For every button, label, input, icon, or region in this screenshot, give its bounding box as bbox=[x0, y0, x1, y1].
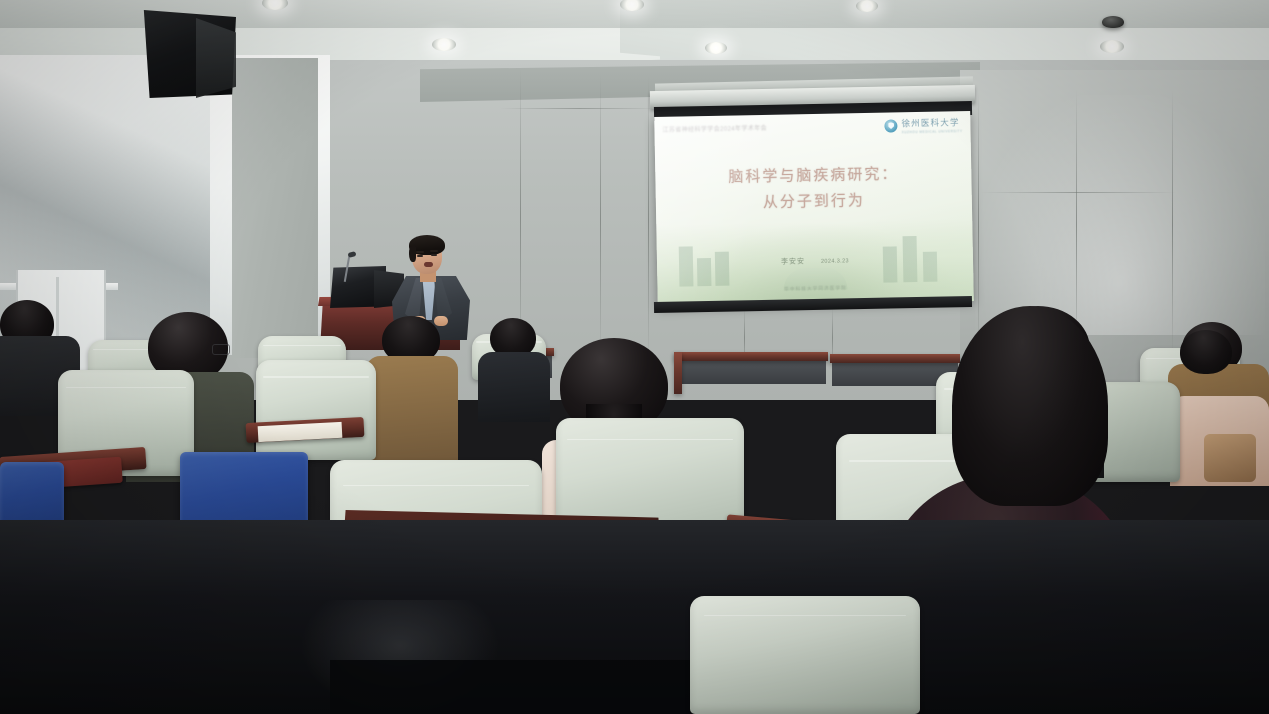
slide-header-text: 江苏省神经科学学会2024年学术年会 bbox=[662, 123, 767, 134]
recessed-downlight bbox=[1100, 40, 1124, 53]
recessed-downlight bbox=[856, 0, 878, 12]
front-bench-side-rail bbox=[674, 352, 682, 394]
wall-light-glow bbox=[975, 95, 1265, 335]
speaker-eyebrow bbox=[430, 250, 438, 252]
attendee-torso bbox=[366, 356, 458, 466]
speaker-mouth bbox=[424, 262, 433, 267]
recessed-downlight bbox=[705, 42, 727, 54]
slide-title-line-2: 从分子到行为 bbox=[656, 185, 972, 217]
recessed-downlight bbox=[432, 38, 456, 51]
front-wooden-bench bbox=[830, 354, 960, 363]
attendee-head bbox=[952, 306, 1108, 506]
attendee-head bbox=[1180, 330, 1232, 374]
projection-screen: 江苏省神经科学学会2024年学术年会 徐州医科大学 XUZHOU MEDICAL… bbox=[654, 111, 974, 307]
university-logo-icon bbox=[884, 119, 897, 132]
speaker-hair-side bbox=[409, 246, 416, 262]
wall-panel-seam bbox=[1172, 90, 1173, 360]
wall-panel-seam bbox=[980, 192, 1176, 193]
university-logo-subtext: XUZHOU MEDICAL UNIVERSITY bbox=[902, 129, 963, 134]
front-wooden-bench bbox=[674, 352, 828, 361]
wall-panel-seam bbox=[600, 74, 601, 364]
wall-panel-seam bbox=[648, 76, 649, 366]
lecture-hall-photo: 江苏省神经科学学会2024年学术年会 徐州医科大学 XUZHOU MEDICAL… bbox=[0, 0, 1269, 714]
wall-panel-seam bbox=[500, 108, 660, 109]
handbag bbox=[1204, 434, 1256, 482]
seat-headrest-cover[interactable] bbox=[690, 596, 920, 714]
slide-title: 脑科学与脑疾病研究： 从分子到行为 bbox=[655, 159, 972, 217]
wall-pillar bbox=[232, 58, 318, 358]
slide-date: 2024.3.23 bbox=[821, 258, 849, 265]
university-logo: 徐州医科大学 XUZHOU MEDICAL UNIVERSITY bbox=[884, 116, 962, 134]
seat-headrest-cover[interactable] bbox=[256, 360, 376, 460]
attendee-torso bbox=[478, 352, 550, 422]
speaker-eyebrow bbox=[416, 251, 424, 253]
wall-panel-seam bbox=[978, 92, 979, 362]
eyeglasses-icon bbox=[212, 344, 230, 355]
slide-presenter-name: 李安安 bbox=[781, 258, 805, 265]
university-logo-text: 徐州医科大学 bbox=[901, 116, 962, 129]
ceiling-smoke-detector bbox=[1102, 16, 1124, 28]
speaker-hand bbox=[434, 316, 448, 326]
